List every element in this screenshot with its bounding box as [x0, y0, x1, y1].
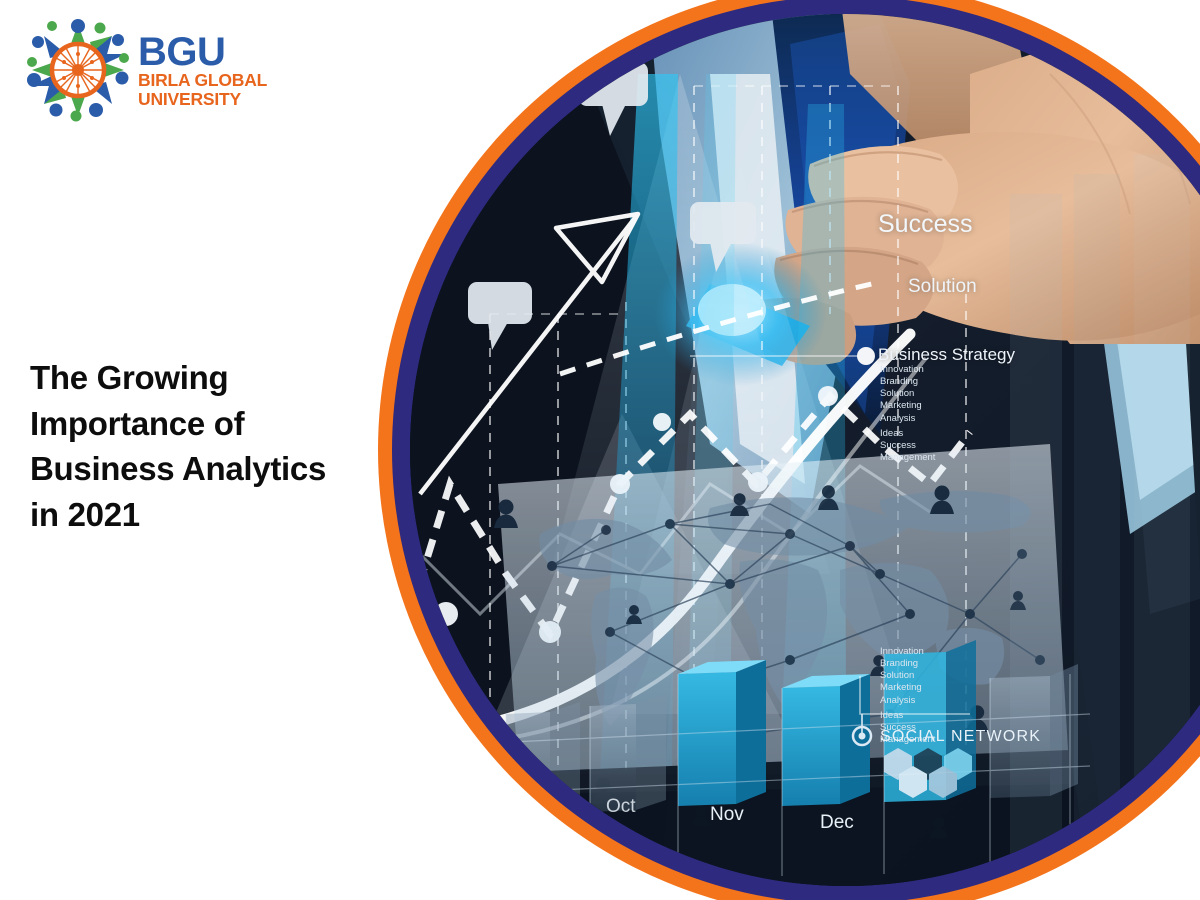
- poster-canvas: Success Solution Business Strategy Innov…: [0, 0, 1200, 900]
- logo-name-line-1: BIRLA GLOBAL: [138, 71, 298, 91]
- logo-acronym: BGU: [138, 34, 298, 71]
- headline-line: in 2021: [30, 492, 410, 538]
- bgu-chakra-people-logo-icon: [26, 18, 130, 122]
- logo-wordmark: BGU BIRLA GLOBAL UNIVERSITY: [138, 34, 298, 110]
- logo-name-line-2: UNIVERSITY: [138, 90, 298, 110]
- page-title: The Growing Importance of Business Analy…: [30, 355, 410, 537]
- axis-label-oct: Oct: [606, 796, 636, 818]
- headline-line: The Growing: [30, 355, 410, 401]
- headline-line: Importance of: [30, 401, 410, 447]
- chakra-wheel: [52, 44, 104, 96]
- bgu-logo[interactable]: BGU BIRLA GLOBAL UNIVERSITY: [26, 18, 286, 118]
- chart-month-axis: Oct Nov Dec: [410, 14, 1200, 886]
- axis-label-dec: Dec: [820, 812, 854, 834]
- headline-line: Business Analytics: [30, 446, 410, 492]
- hero-photo-disc: Success Solution Business Strategy Innov…: [410, 14, 1200, 886]
- axis-label-nov: Nov: [710, 804, 744, 826]
